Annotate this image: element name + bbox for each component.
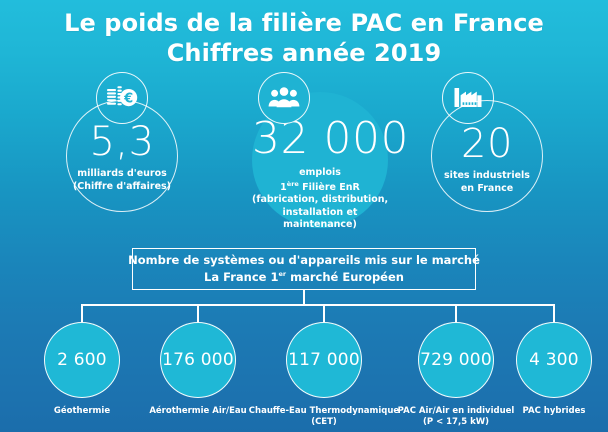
- connector-drop-1: [81, 304, 83, 322]
- segment-geothermie-label: Géothermie: [54, 406, 110, 417]
- connector-stem: [303, 290, 305, 305]
- connector-drop-5: [553, 304, 555, 322]
- segment-aerothermie-label: Aérothermie Air/Eau: [149, 406, 246, 417]
- page-title: Le poids de la filière PAC en France Chi…: [0, 8, 608, 68]
- svg-text:€: €: [123, 91, 133, 106]
- market-banner: Nombre de systèmes ou d'appareils mis su…: [132, 248, 476, 290]
- segment-pac-air-air-label: PAC Air/Air en individuel (P < 17,5 kW): [398, 406, 515, 429]
- banner-ordinal-suffix: er: [278, 270, 286, 278]
- factory-icon: [442, 72, 494, 124]
- segment-cet-label: Chauffe-Eau Thermodynamique (CET): [249, 406, 399, 429]
- stat-sites: 20 sites industriels en France: [431, 100, 543, 212]
- segment-geothermie-value: 2 600: [57, 350, 107, 370]
- connector-drop-4: [455, 304, 457, 322]
- segment-cet-value: 117 000: [288, 350, 360, 370]
- title-line-1: Le poids de la filière PAC en France: [0, 8, 608, 38]
- segment-aerothermie: 176 000 Aérothermie Air/Eau: [155, 322, 241, 422]
- segment-pac-air-air-disc: 729 000: [418, 322, 494, 398]
- segment-pac-hybrides-disc: 4 300: [516, 322, 592, 398]
- banner-line-2: La France 1er marché Européen: [204, 269, 404, 286]
- title-line-2: Chiffres année 2019: [0, 38, 608, 68]
- segment-pac-hybrides-label: PAC hybrides: [523, 406, 586, 417]
- banner-ordinal-rest: marché Européen: [286, 270, 404, 284]
- segment-pac-air-air-value: 729 000: [420, 350, 492, 370]
- infographic-root: Le poids de la filière PAC en France Chi…: [0, 0, 608, 432]
- connector-drop-2: [197, 304, 199, 322]
- segment-pac-air-air: 729 000 PAC Air/Air en individuel (P < 1…: [413, 322, 499, 422]
- stat-sites-ring: [431, 100, 543, 212]
- segment-cet-disc: 117 000: [286, 322, 362, 398]
- banner-ordinal-number: La France 1: [204, 270, 278, 284]
- connector-drop-3: [323, 304, 325, 322]
- segment-pac-hybrides-value: 4 300: [529, 350, 579, 370]
- people-group-icon: [258, 72, 310, 124]
- coins-euro-icon: €: [96, 72, 148, 124]
- banner-line-1: Nombre de systèmes ou d'appareils mis su…: [128, 252, 480, 269]
- segment-geothermie: 2 600 Géothermie: [39, 322, 125, 422]
- segment-aerothermie-value: 176 000: [162, 350, 234, 370]
- segment-aerothermie-disc: 176 000: [160, 322, 236, 398]
- segment-pac-hybrides: 4 300 PAC hybrides: [511, 322, 597, 422]
- segment-geothermie-disc: 2 600: [44, 322, 120, 398]
- segment-cet: 117 000 Chauffe-Eau Thermodynamique (CET…: [281, 322, 367, 422]
- connector-bus: [81, 304, 554, 306]
